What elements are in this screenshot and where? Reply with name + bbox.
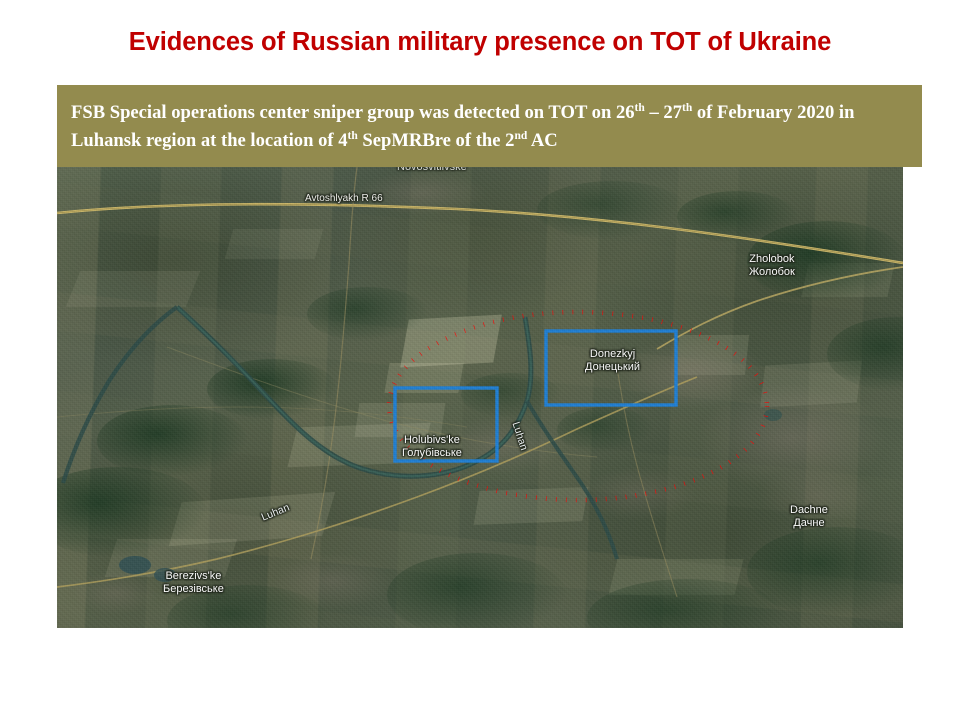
caption-line1-part3: of [692,102,712,123]
caption-line2-sup2: nd [514,130,527,142]
map-vignette [57,167,903,628]
satellite-map-image[interactable]: NovosvitlivskeAvtoshlyakh R 66ZholobokЖо… [57,167,903,628]
caption-line1-sup2: th [682,102,692,114]
page-title: Evidences of Russian military presence o… [0,28,960,57]
caption-line1-sup1: th [635,102,645,114]
caption-line2-sup1: th [348,130,358,142]
caption-text: FSB Special operations center sniper gro… [71,99,906,155]
caption-line1-part1: FSB Special operations center sniper gro… [71,102,635,123]
caption-line1-part2: – 27 [645,102,682,123]
caption-banner: FSB Special operations center sniper gro… [57,85,922,167]
caption-line2-part3: AC [527,130,557,151]
caption-line2-part2: SepMRBre of the 2 [358,130,515,151]
